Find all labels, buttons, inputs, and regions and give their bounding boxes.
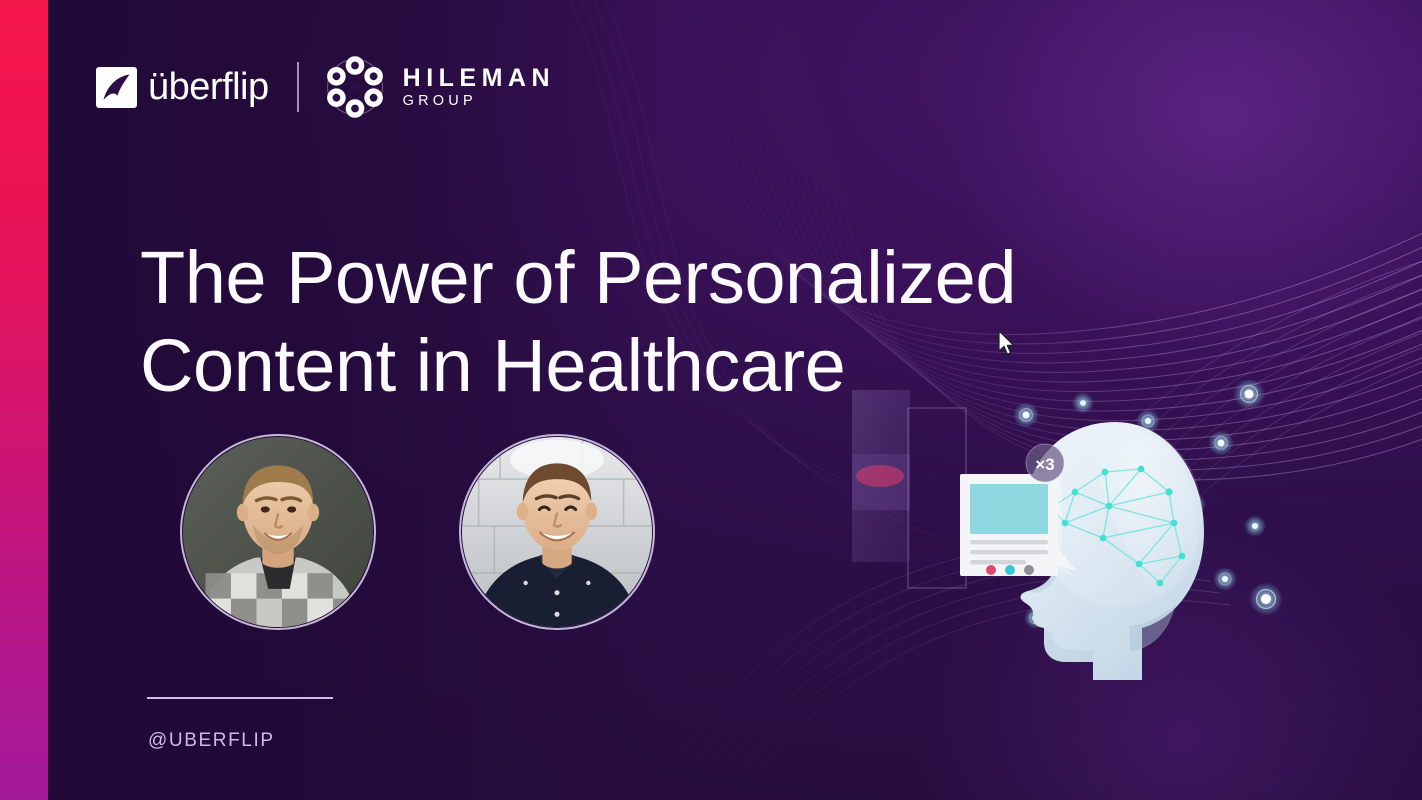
- card-dots: [986, 565, 1034, 575]
- content-card: [960, 474, 1076, 576]
- card-image-block: [970, 484, 1048, 534]
- left-accent-gradient-bar: [0, 0, 48, 800]
- hileman-circles-mark-icon: [325, 56, 385, 118]
- logo-lockup: überflip: [96, 56, 555, 118]
- multiplier-badge-label: ×3: [1035, 455, 1054, 474]
- hileman-group-logo: HILEMAN GROUP: [325, 56, 555, 118]
- avatar: [459, 434, 655, 630]
- multiplier-badge: ×3: [1026, 444, 1064, 482]
- uberflip-wordmark: überflip: [148, 68, 269, 106]
- social-handle: @UBERFLIP: [148, 730, 275, 752]
- hileman-name: HILEMAN: [403, 66, 555, 91]
- uberflip-logo: überflip: [96, 67, 269, 108]
- presentation-slide: überflip: [0, 0, 1422, 800]
- footer-divider-rule: [147, 697, 333, 699]
- title-line-1: The Power of Personalized: [140, 234, 1140, 322]
- hileman-subtitle: GROUP: [403, 94, 555, 109]
- logo-separator: [297, 62, 299, 112]
- avatar: [180, 434, 376, 630]
- uberflip-flip-mark-icon: [96, 67, 137, 108]
- ai-personalization-illustration: ×3: [830, 380, 1300, 680]
- background-panels: [852, 390, 966, 588]
